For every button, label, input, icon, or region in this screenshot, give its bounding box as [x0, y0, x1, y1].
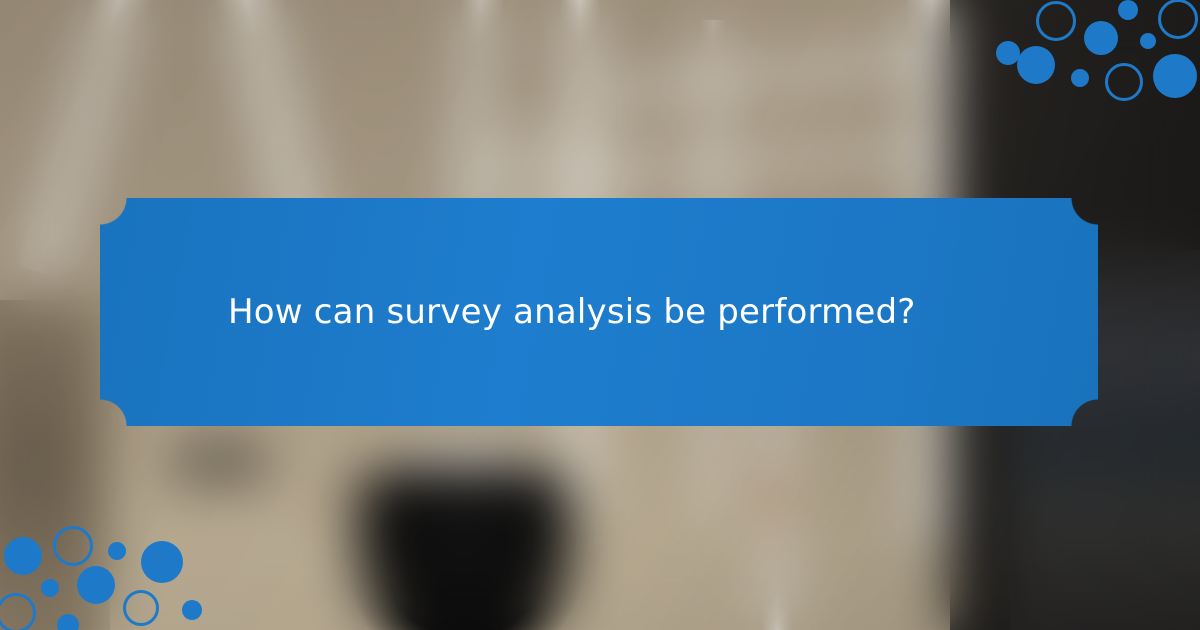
- decorative-circle: [141, 541, 183, 583]
- decorative-circle: [0, 593, 36, 630]
- decorative-circle: [108, 542, 126, 560]
- decorative-circle: [53, 526, 93, 566]
- decorative-circle: [57, 614, 79, 630]
- decorative-circle: [1017, 46, 1055, 84]
- circle-cluster-bottom-left: [0, 510, 200, 630]
- page-title: How can survey analysis be performed?: [100, 291, 976, 334]
- headline-banner: How can survey analysis be performed?: [100, 198, 1098, 426]
- decorative-circle: [77, 566, 115, 604]
- decorative-circle: [1153, 54, 1197, 98]
- page-root: How can survey analysis be performed?: [0, 0, 1200, 630]
- circle-cluster-top-right: [1000, 0, 1200, 112]
- decorative-circle: [4, 537, 42, 575]
- decorative-circle: [1036, 1, 1076, 41]
- decorative-circle: [41, 579, 59, 597]
- decorative-circle: [1084, 21, 1118, 55]
- decorative-circle: [1118, 0, 1138, 20]
- decorative-circle: [1158, 0, 1198, 39]
- decorative-circle: [1071, 69, 1089, 87]
- decorative-circle: [123, 590, 159, 626]
- decorative-circle: [1140, 33, 1156, 49]
- decorative-circle: [1105, 63, 1143, 101]
- decorative-circle: [182, 600, 202, 620]
